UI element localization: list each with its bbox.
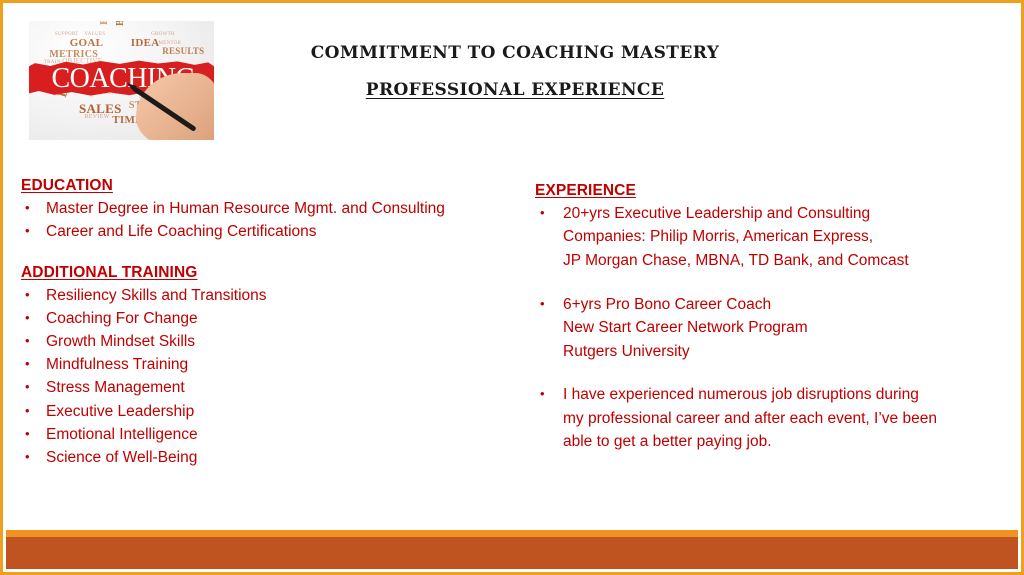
cloud-word-plan: PLAN [99, 21, 110, 25]
section-heading-experience: EXPERIENCE [535, 181, 1005, 202]
list-item: Career and Life Coaching Certifications [21, 220, 521, 243]
list-item: I have experienced numerous job disrupti… [535, 383, 1005, 454]
experience-list: 20+yrs Executive Leadership and Consulti… [535, 202, 1005, 454]
list-item: 20+yrs Executive Leadership and Consulti… [535, 202, 1005, 273]
page-subtitle: PROFESSIONAL EXPERIENCE [235, 80, 795, 101]
additional-training-list: Resiliency Skills and Transitions Coachi… [21, 284, 521, 469]
cloud-word-review: REVIEW [85, 114, 110, 120]
list-item: 6+yrs Pro Bono Career Coach New Start Ca… [535, 293, 1005, 364]
section-heading-additional-training: ADDITIONAL TRAINING [21, 263, 521, 284]
list-item: Science of Well-Being [21, 446, 521, 469]
cloud-word-idea: IDEA [131, 38, 160, 49]
list-item: Growth Mindset Skills [21, 330, 521, 353]
cloud-word-small: SUPPORT [55, 32, 79, 37]
section-spacer [21, 243, 521, 263]
list-item: Resiliency Skills and Transitions [21, 284, 521, 307]
list-item: Coaching For Change [21, 307, 521, 330]
cloud-word-business: BUSINESS [116, 21, 126, 26]
footer-accent-stripe [6, 530, 1018, 537]
cloud-word-results: RESULTS [162, 47, 204, 56]
cloud-word-goal: GOAL [70, 38, 104, 49]
list-item: Emotional Intelligence [21, 423, 521, 446]
page-title: COMMITMENT TO COACHING MASTERY [235, 43, 795, 64]
coaching-word-cloud-image: SUPPORT VALUES GROWTH MENTOR TRAIN GOAL … [29, 21, 214, 140]
list-item: Mindfulness Training [21, 353, 521, 376]
right-content-column: EXPERIENCE 20+yrs Executive Leadership a… [535, 181, 1005, 454]
section-heading-education: EDUCATION [21, 176, 521, 197]
list-item: Master Degree in Human Resource Mgmt. an… [21, 197, 521, 220]
presentation-slide: SUPPORT VALUES GROWTH MENTOR TRAIN GOAL … [0, 0, 1024, 575]
education-list: Master Degree in Human Resource Mgmt. an… [21, 197, 521, 243]
cloud-word-small: VALUES [85, 32, 106, 37]
list-item: Stress Management [21, 376, 521, 399]
list-item: Executive Leadership [21, 400, 521, 423]
footer-accent-band [6, 537, 1018, 569]
cloud-word-small: GROWTH [151, 32, 175, 37]
left-content-column: EDUCATION Master Degree in Human Resourc… [21, 176, 521, 469]
slide-title-block: COMMITMENT TO COACHING MASTERY PROFESSIO… [235, 43, 795, 102]
